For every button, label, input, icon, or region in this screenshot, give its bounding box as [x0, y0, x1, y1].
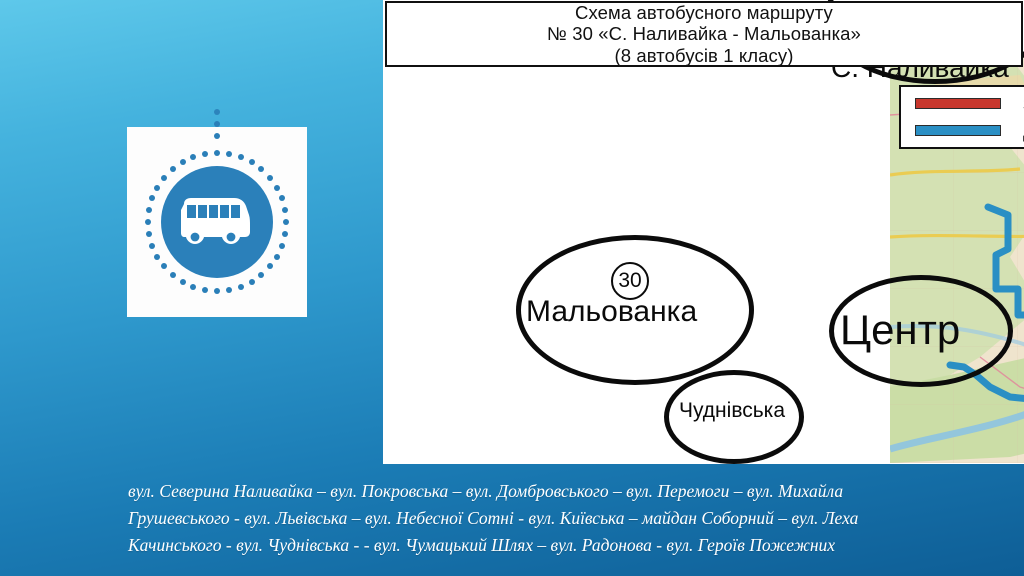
page-title: Схема автобусного маршруту № 30 «С. Нали…	[547, 2, 861, 67]
ring-dot	[249, 159, 255, 165]
ring-dot	[226, 287, 232, 293]
ring-dot	[149, 243, 155, 249]
ring-dot	[202, 151, 208, 157]
ring-dot	[146, 231, 152, 237]
ring-dot	[258, 272, 264, 278]
map-panel: TIMES.ZT С. Наливайка 30 Мальованка 30 Ц…	[383, 0, 1024, 464]
ring-dot-antenna	[214, 121, 220, 127]
district-label-chudnivska: Чуднівська	[679, 399, 785, 423]
legend-item-changes: зміни	[915, 93, 1024, 114]
ring-dot	[161, 175, 167, 181]
legend-swatch-changes	[915, 98, 1001, 109]
ring-dot	[279, 195, 285, 201]
ring-dot	[161, 263, 167, 269]
bus-icon	[178, 196, 256, 248]
legend-swatch-existing	[915, 125, 1001, 136]
route-badge-malovanka: 30	[611, 262, 649, 300]
bus-icon-card	[127, 127, 307, 317]
ring-dot	[267, 263, 273, 269]
ring-dot	[258, 166, 264, 172]
ring-dot-antenna	[214, 109, 220, 115]
ring-dot	[274, 254, 280, 260]
ring-dot	[282, 207, 288, 213]
ring-dot	[190, 284, 196, 290]
ring-dot	[154, 185, 160, 191]
ring-dot	[170, 272, 176, 278]
ring-dot	[282, 231, 288, 237]
slide-root: TIMES.ZT С. Наливайка 30 Мальованка 30 Ц…	[0, 0, 1024, 576]
ring-dot	[214, 150, 220, 156]
ring-dot	[279, 243, 285, 249]
map-legend: зміни діюча	[899, 85, 1024, 149]
ring-dot	[238, 284, 244, 290]
ring-dot-antenna	[214, 133, 220, 139]
ring-dot	[180, 159, 186, 165]
ring-dot	[170, 166, 176, 172]
ring-dot	[249, 279, 255, 285]
ring-dot	[238, 154, 244, 160]
legend-item-existing: діюча	[915, 120, 1024, 141]
ring-dot	[180, 279, 186, 285]
ring-dot	[274, 185, 280, 191]
ring-dot	[146, 207, 152, 213]
district-label-centr: Центр	[840, 306, 960, 354]
route-description-text: вул. Северина Наливайка – вул. Покровськ…	[128, 478, 958, 559]
ring-dot	[267, 175, 273, 181]
ring-dot	[226, 151, 232, 157]
ring-dot	[202, 287, 208, 293]
ring-dot	[149, 195, 155, 201]
ring-dot	[214, 288, 220, 294]
ring-dot	[154, 254, 160, 260]
ring-dot	[283, 219, 289, 225]
district-label-malovanka: Мальованка	[526, 295, 697, 329]
ring-dot	[190, 154, 196, 160]
slide-title-box: Схема автобусного маршруту № 30 «С. Нали…	[385, 1, 1023, 67]
ring-dot	[145, 219, 151, 225]
